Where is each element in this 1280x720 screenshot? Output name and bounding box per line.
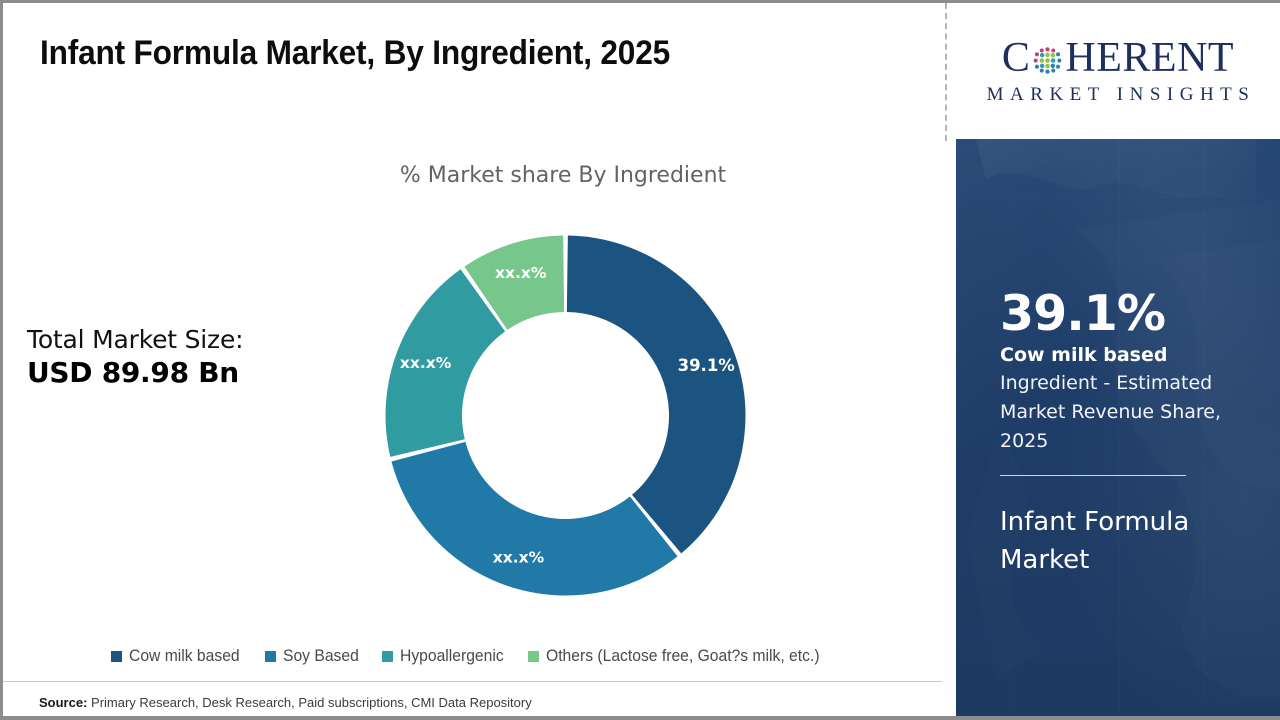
legend-swatch-icon <box>382 651 393 662</box>
stat-value: 39.1% <box>1000 289 1245 339</box>
legend-label: Cow milk based <box>129 647 240 666</box>
stat-description: Ingredient - Estimated Market Revenue Sh… <box>1000 369 1245 456</box>
page-title: Infant Formula Market, By Ingredient, 20… <box>40 34 670 73</box>
infographic-canvas: Infant Formula Market, By Ingredient, 20… <box>0 0 1280 720</box>
donut-slice-label: xx.x% <box>493 548 545 566</box>
brand-logo: C <box>956 3 1280 139</box>
legend-item[interactable]: Others (Lactose free, Goat?s milk, etc.) <box>528 647 834 666</box>
logo-tagline: MARKET INSIGHTS <box>981 84 1256 106</box>
donut-slice[interactable] <box>391 442 677 596</box>
logo-letter-c: C <box>1002 37 1031 79</box>
total-market-size-block: Total Market Size: USD 89.98 Bn <box>27 325 327 390</box>
globe-dots-icon <box>1031 43 1064 76</box>
sidebar-panel: C <box>956 3 1280 716</box>
source-text: Primary Research, Desk Research, Paid su… <box>87 695 531 710</box>
logo-word-herent: HERENT <box>1065 37 1234 79</box>
stat-content: 39.1% Cow milk based Ingredient - Estima… <box>1000 289 1245 580</box>
donut-slice-label: xx.x% <box>495 264 547 282</box>
legend-label: Hypoallergenic <box>400 647 504 666</box>
donut-slice-label: xx.x% <box>400 354 452 372</box>
legend-label: Others (Lactose free, Goat?s milk, etc.) <box>546 647 820 666</box>
legend-label: Soy Based <box>283 647 359 666</box>
chart-panel: Infant Formula Market, By Ingredient, 20… <box>3 3 942 716</box>
donut-slice[interactable] <box>567 236 746 554</box>
chart-subtitle: % Market share By Ingredient <box>3 163 1123 188</box>
legend-swatch-icon <box>265 651 276 662</box>
donut-chart-svg: 39.1%xx.x%xx.x%xx.x% <box>378 228 753 603</box>
legend-swatch-icon <box>528 651 539 662</box>
logo-wordmark: C <box>1002 37 1234 79</box>
stat-market-name: Infant Formula Market <box>1000 504 1245 579</box>
legend-swatch-icon <box>111 651 122 662</box>
source-label: Source: <box>39 695 87 710</box>
donut-slice-label: 39.1% <box>678 356 736 375</box>
legend-item[interactable]: Cow milk based <box>111 647 245 666</box>
stat-highlight-panel: 39.1% Cow milk based Ingredient - Estima… <box>956 139 1280 716</box>
vertical-dashed-divider <box>945 3 947 141</box>
donut-chart: 39.1%xx.x%xx.x%xx.x% <box>378 228 753 603</box>
stat-segment-name: Cow milk based <box>1000 344 1245 367</box>
source-line: Source: Primary Research, Desk Research,… <box>39 695 532 710</box>
legend-item[interactable]: Hypoallergenic <box>382 647 509 666</box>
total-market-size-label: Total Market Size: <box>27 325 327 355</box>
chart-legend: Cow milk basedSoy BasedHypoallergenicOth… <box>3 647 942 666</box>
total-market-size-value: USD 89.98 Bn <box>27 355 327 390</box>
legend-item[interactable]: Soy Based <box>265 647 363 666</box>
stat-divider-rule <box>1000 475 1186 476</box>
donut-slice-group <box>386 236 746 596</box>
source-divider <box>3 681 942 682</box>
